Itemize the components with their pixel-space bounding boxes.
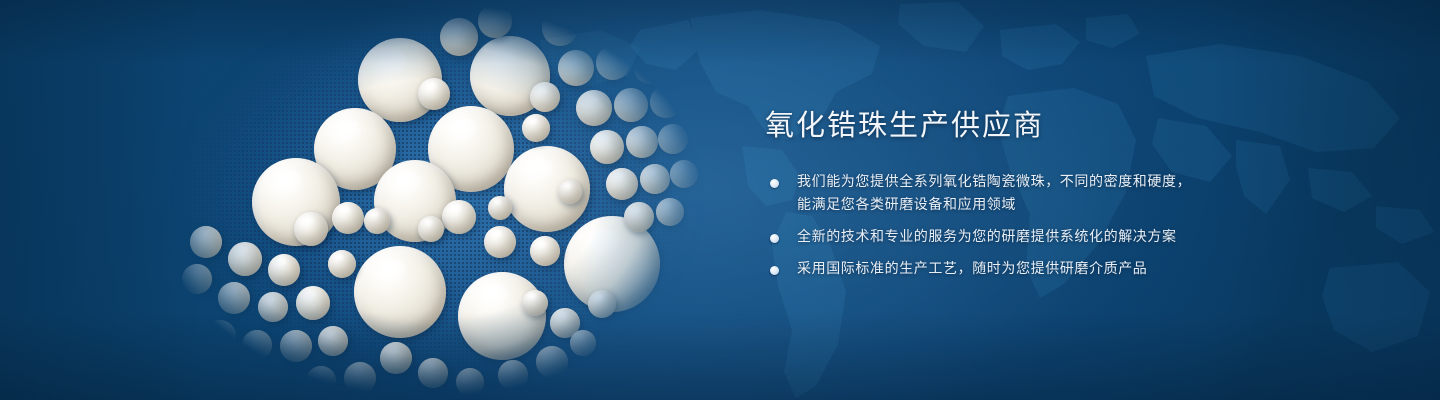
banner-copy: 氧化锆珠生产供应商 我们能为您提供全系列氧化锆陶瓷微珠，不同的密度和硬度， 能满…	[765, 108, 1385, 281]
halftone-dot-texture	[118, 0, 718, 400]
list-item: 全新的技术和专业的服务为您的研磨提供系统化的解决方案	[765, 226, 1385, 249]
bullet-dot-icon	[770, 179, 779, 188]
bullet-line: 能满足您各类研磨设备和应用领域	[797, 194, 1385, 217]
feature-bullet-list: 我们能为您提供全系列氧化锆陶瓷微珠，不同的密度和硬度， 能满足您各类研磨设备和应…	[765, 171, 1385, 281]
bullet-dot-icon	[770, 234, 779, 243]
bullet-dot-icon	[770, 266, 779, 275]
hero-banner: 氧化锆珠生产供应商 我们能为您提供全系列氧化锆陶瓷微珠，不同的密度和硬度， 能满…	[0, 0, 1440, 400]
headline: 氧化锆珠生产供应商	[765, 108, 1385, 143]
photo-glow	[118, 0, 718, 400]
list-item: 采用国际标准的生产工艺，随时为您提供研磨介质产品	[765, 258, 1385, 281]
zirconia-beads-photo	[118, 0, 718, 400]
bullet-line: 采用国际标准的生产工艺，随时为您提供研磨介质产品	[797, 258, 1385, 281]
bead-cluster	[118, 0, 718, 400]
bullet-line: 我们能为您提供全系列氧化锆陶瓷微珠，不同的密度和硬度，	[797, 171, 1385, 194]
list-item: 我们能为您提供全系列氧化锆陶瓷微珠，不同的密度和硬度， 能满足您各类研磨设备和应…	[765, 171, 1385, 217]
bullet-line: 全新的技术和专业的服务为您的研磨提供系统化的解决方案	[797, 226, 1385, 249]
